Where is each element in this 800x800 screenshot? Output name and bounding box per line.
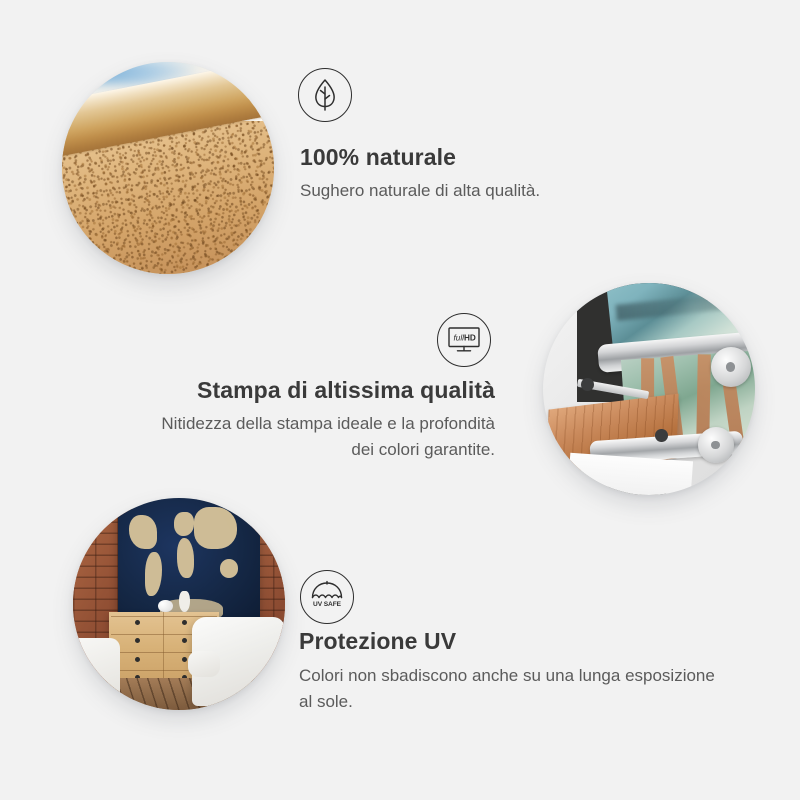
map-continent xyxy=(129,515,157,549)
room-decor-figurine xyxy=(179,591,190,612)
leaf-icon xyxy=(298,68,352,122)
map-continent xyxy=(194,507,237,549)
map-continent xyxy=(177,538,194,577)
room-armchair-right xyxy=(192,617,285,706)
feature-natural-description: Sughero naturale di alta qualità. xyxy=(300,178,720,204)
feature-natural-title: 100% naturale xyxy=(300,142,720,172)
svg-text:full: full xyxy=(454,334,465,343)
printing-machine-photo xyxy=(543,283,755,495)
printer-roller-disc xyxy=(698,427,734,463)
fullhd-monitor-icon: full HD xyxy=(437,313,491,367)
feature-uv-text: Protezione UV Colori non sbadiscono anch… xyxy=(299,626,719,715)
map-continent xyxy=(174,512,194,536)
dresser-knob xyxy=(182,657,187,662)
svg-text:HD: HD xyxy=(464,334,476,343)
roller-hub xyxy=(726,362,736,372)
cork-photo-inner xyxy=(62,62,274,274)
map-continent xyxy=(145,552,162,597)
feature-highlights-page: 100% naturale Sughero naturale di alta q… xyxy=(0,0,800,800)
room-decor-globe xyxy=(158,600,173,613)
interior-room-photo xyxy=(73,498,285,710)
feature-print-text: Stampa di altissima qualità Nitidezza de… xyxy=(150,375,495,463)
room-armchair-left xyxy=(73,638,120,702)
feature-uv-description: Colori non sbadiscono anche su una lunga… xyxy=(299,663,719,715)
cork-texture-photo xyxy=(62,62,274,274)
dresser-knob xyxy=(182,620,187,625)
feature-uv-title: Protezione UV xyxy=(299,626,719,657)
map-continent xyxy=(220,559,238,577)
printer-knob xyxy=(581,378,594,391)
roller-hub xyxy=(711,441,720,450)
armchair-arm xyxy=(188,651,220,678)
feature-print-title: Stampa di altissima qualità xyxy=(150,375,495,406)
room-photo-inner xyxy=(73,498,285,710)
printer-roller-disc xyxy=(711,347,751,387)
printer-knob xyxy=(655,429,668,442)
printer-photo-inner xyxy=(543,283,755,495)
feature-natural-text: 100% naturale Sughero naturale di alta q… xyxy=(300,142,720,204)
feature-print-description: Nitidezza della stampa ideale e la profo… xyxy=(150,411,495,463)
uv-safe-umbrella-icon: UV SAFE xyxy=(300,570,354,624)
svg-text:UV SAFE: UV SAFE xyxy=(313,601,342,608)
